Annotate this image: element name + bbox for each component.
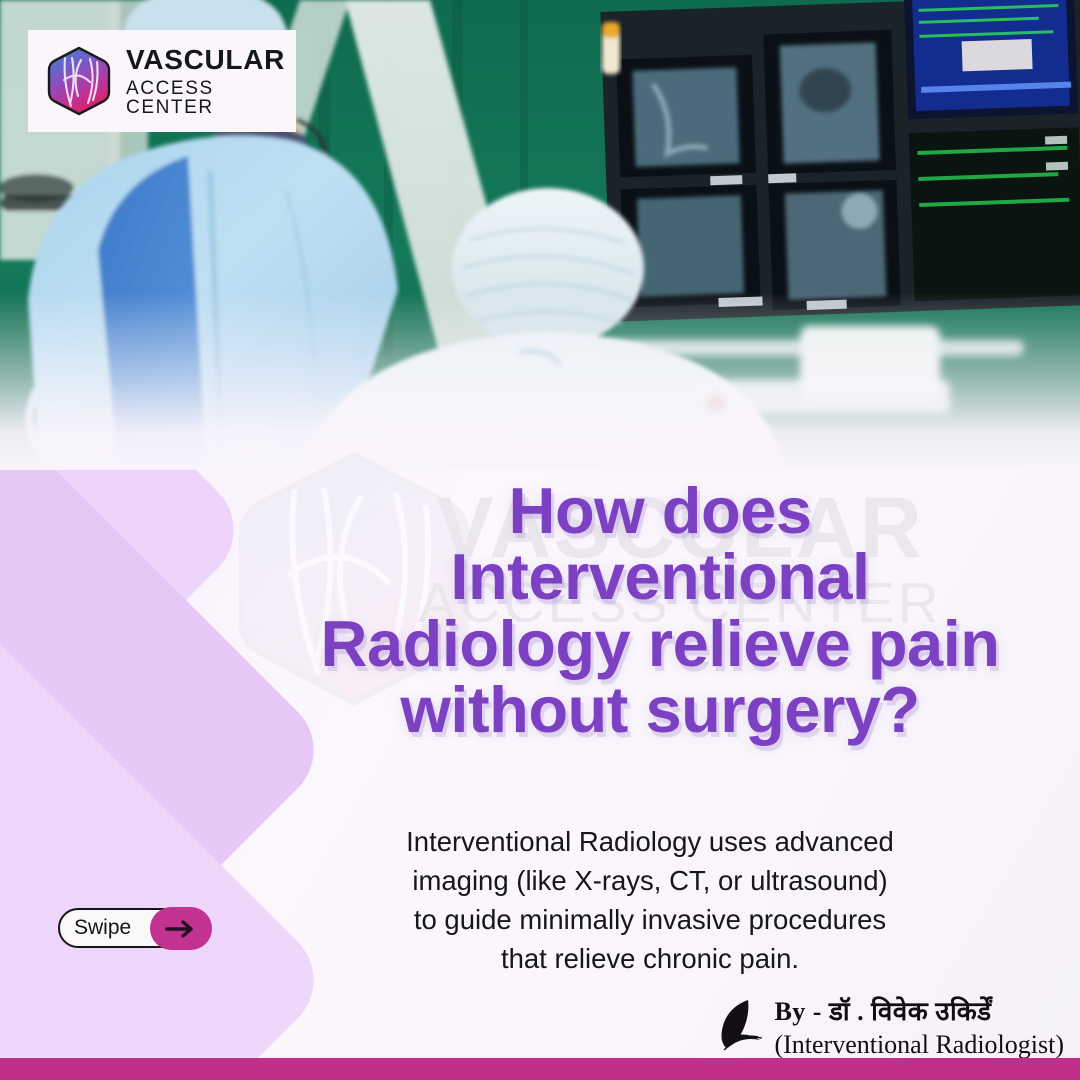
headline-line-1: How does	[250, 478, 1070, 544]
brand-logo-badge: VASCULAR ACCESS CENTER	[28, 30, 296, 132]
arrow-right-icon[interactable]	[150, 907, 212, 950]
body-copy: Interventional Radiology uses advanced i…	[330, 822, 970, 978]
quill-pen-icon	[718, 998, 764, 1054]
brand-name-secondary: ACCESS CENTER	[126, 79, 296, 117]
author-credential: (Interventional Radiologist)	[774, 1030, 1064, 1060]
hexagon-vein-logo-icon	[46, 46, 112, 116]
bottom-accent-bar	[0, 1058, 1080, 1080]
author-signature-text: By - डॉ . विवेक उकिर्डें (Interventional…	[774, 992, 1064, 1060]
body-line-1: Interventional Radiology uses advanced	[330, 822, 970, 861]
headline-line-3: Radiology relieve pain	[250, 611, 1070, 677]
body-line-4: that relieve chronic pain.	[330, 939, 970, 978]
author-name: By - डॉ . विवेक उकिर्डें	[774, 992, 1064, 1028]
headline-line-4: without surgery?	[250, 677, 1070, 743]
brand-name-primary: VASCULAR	[126, 46, 296, 74]
social-post-card: VASCULAR ACCESS CENTER	[0, 0, 1080, 1080]
swipe-button-label: Swipe	[60, 916, 131, 940]
headline-line-2: Interventional	[250, 544, 1070, 610]
author-signature: By - डॉ . विवेक उकिर्डें (Interventional…	[718, 992, 1064, 1060]
body-line-3: to guide minimally invasive procedures	[330, 900, 970, 939]
brand-logo-wordmark: VASCULAR ACCESS CENTER	[126, 46, 296, 117]
swipe-button[interactable]: Swipe	[58, 908, 190, 948]
body-line-2: imaging (like X-rays, CT, or ultrasound)	[330, 861, 970, 900]
page-title: How does Interventional Radiology reliev…	[250, 478, 1070, 743]
